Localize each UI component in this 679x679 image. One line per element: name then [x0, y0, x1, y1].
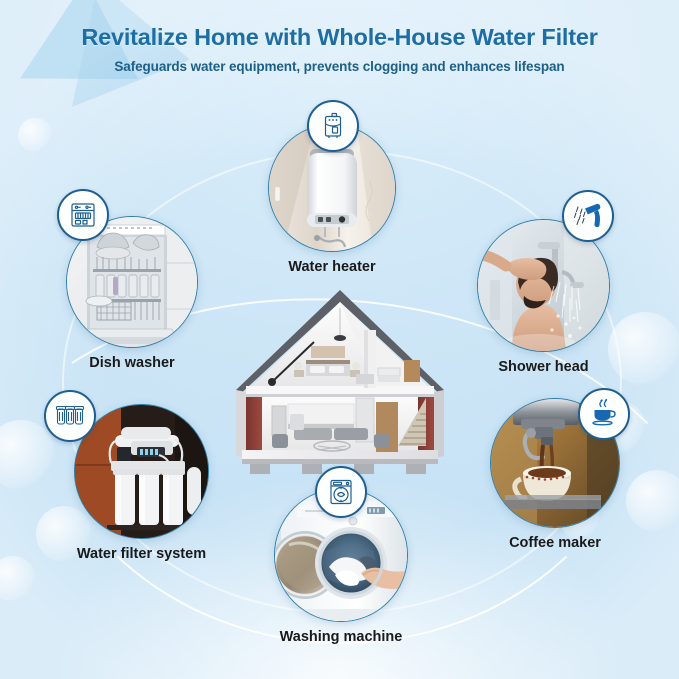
shower-head-icon: [562, 190, 614, 242]
node-washing-machine[interactable]: Washing machine: [274, 488, 408, 645]
decor-bokeh-7: [0, 556, 36, 602]
coffee-cup-icon: [578, 388, 630, 440]
node-water-filter-system[interactable]: Water filter system: [74, 404, 209, 562]
node-label-coffee-maker: Coffee maker: [490, 535, 620, 551]
node-label-water-filter-system: Water filter system: [74, 546, 209, 562]
header: Revitalize Home with Whole-House Water F…: [0, 24, 679, 74]
filter-cartridges-icon: [44, 390, 96, 442]
decor-bokeh-1: [608, 312, 679, 386]
dishwasher-icon: [57, 189, 109, 241]
node-shower-head[interactable]: Shower head: [477, 219, 610, 375]
house-cutaway-illustration: [228, 286, 452, 478]
node-label-dish-washer: Dish washer: [66, 355, 198, 371]
decor-bokeh-8: [18, 118, 52, 152]
node-label-shower-head: Shower head: [477, 359, 610, 375]
page-title: Revitalize Home with Whole-House Water F…: [0, 24, 679, 51]
page-subtitle: Safeguards water equipment, prevents clo…: [0, 59, 679, 74]
infographic-poster: Revitalize Home with Whole-House Water F…: [0, 0, 679, 679]
water-heater-icon: [307, 100, 359, 152]
node-label-water-heater: Water heater: [268, 259, 396, 275]
node-label-washing-machine: Washing machine: [274, 629, 408, 645]
node-water-heater[interactable]: Water heater: [268, 124, 396, 275]
node-coffee-maker[interactable]: Coffee maker: [490, 398, 620, 551]
washing-machine-icon: [315, 466, 367, 518]
node-dish-washer[interactable]: Dish washer: [66, 216, 198, 371]
decor-bokeh-3: [626, 470, 679, 532]
